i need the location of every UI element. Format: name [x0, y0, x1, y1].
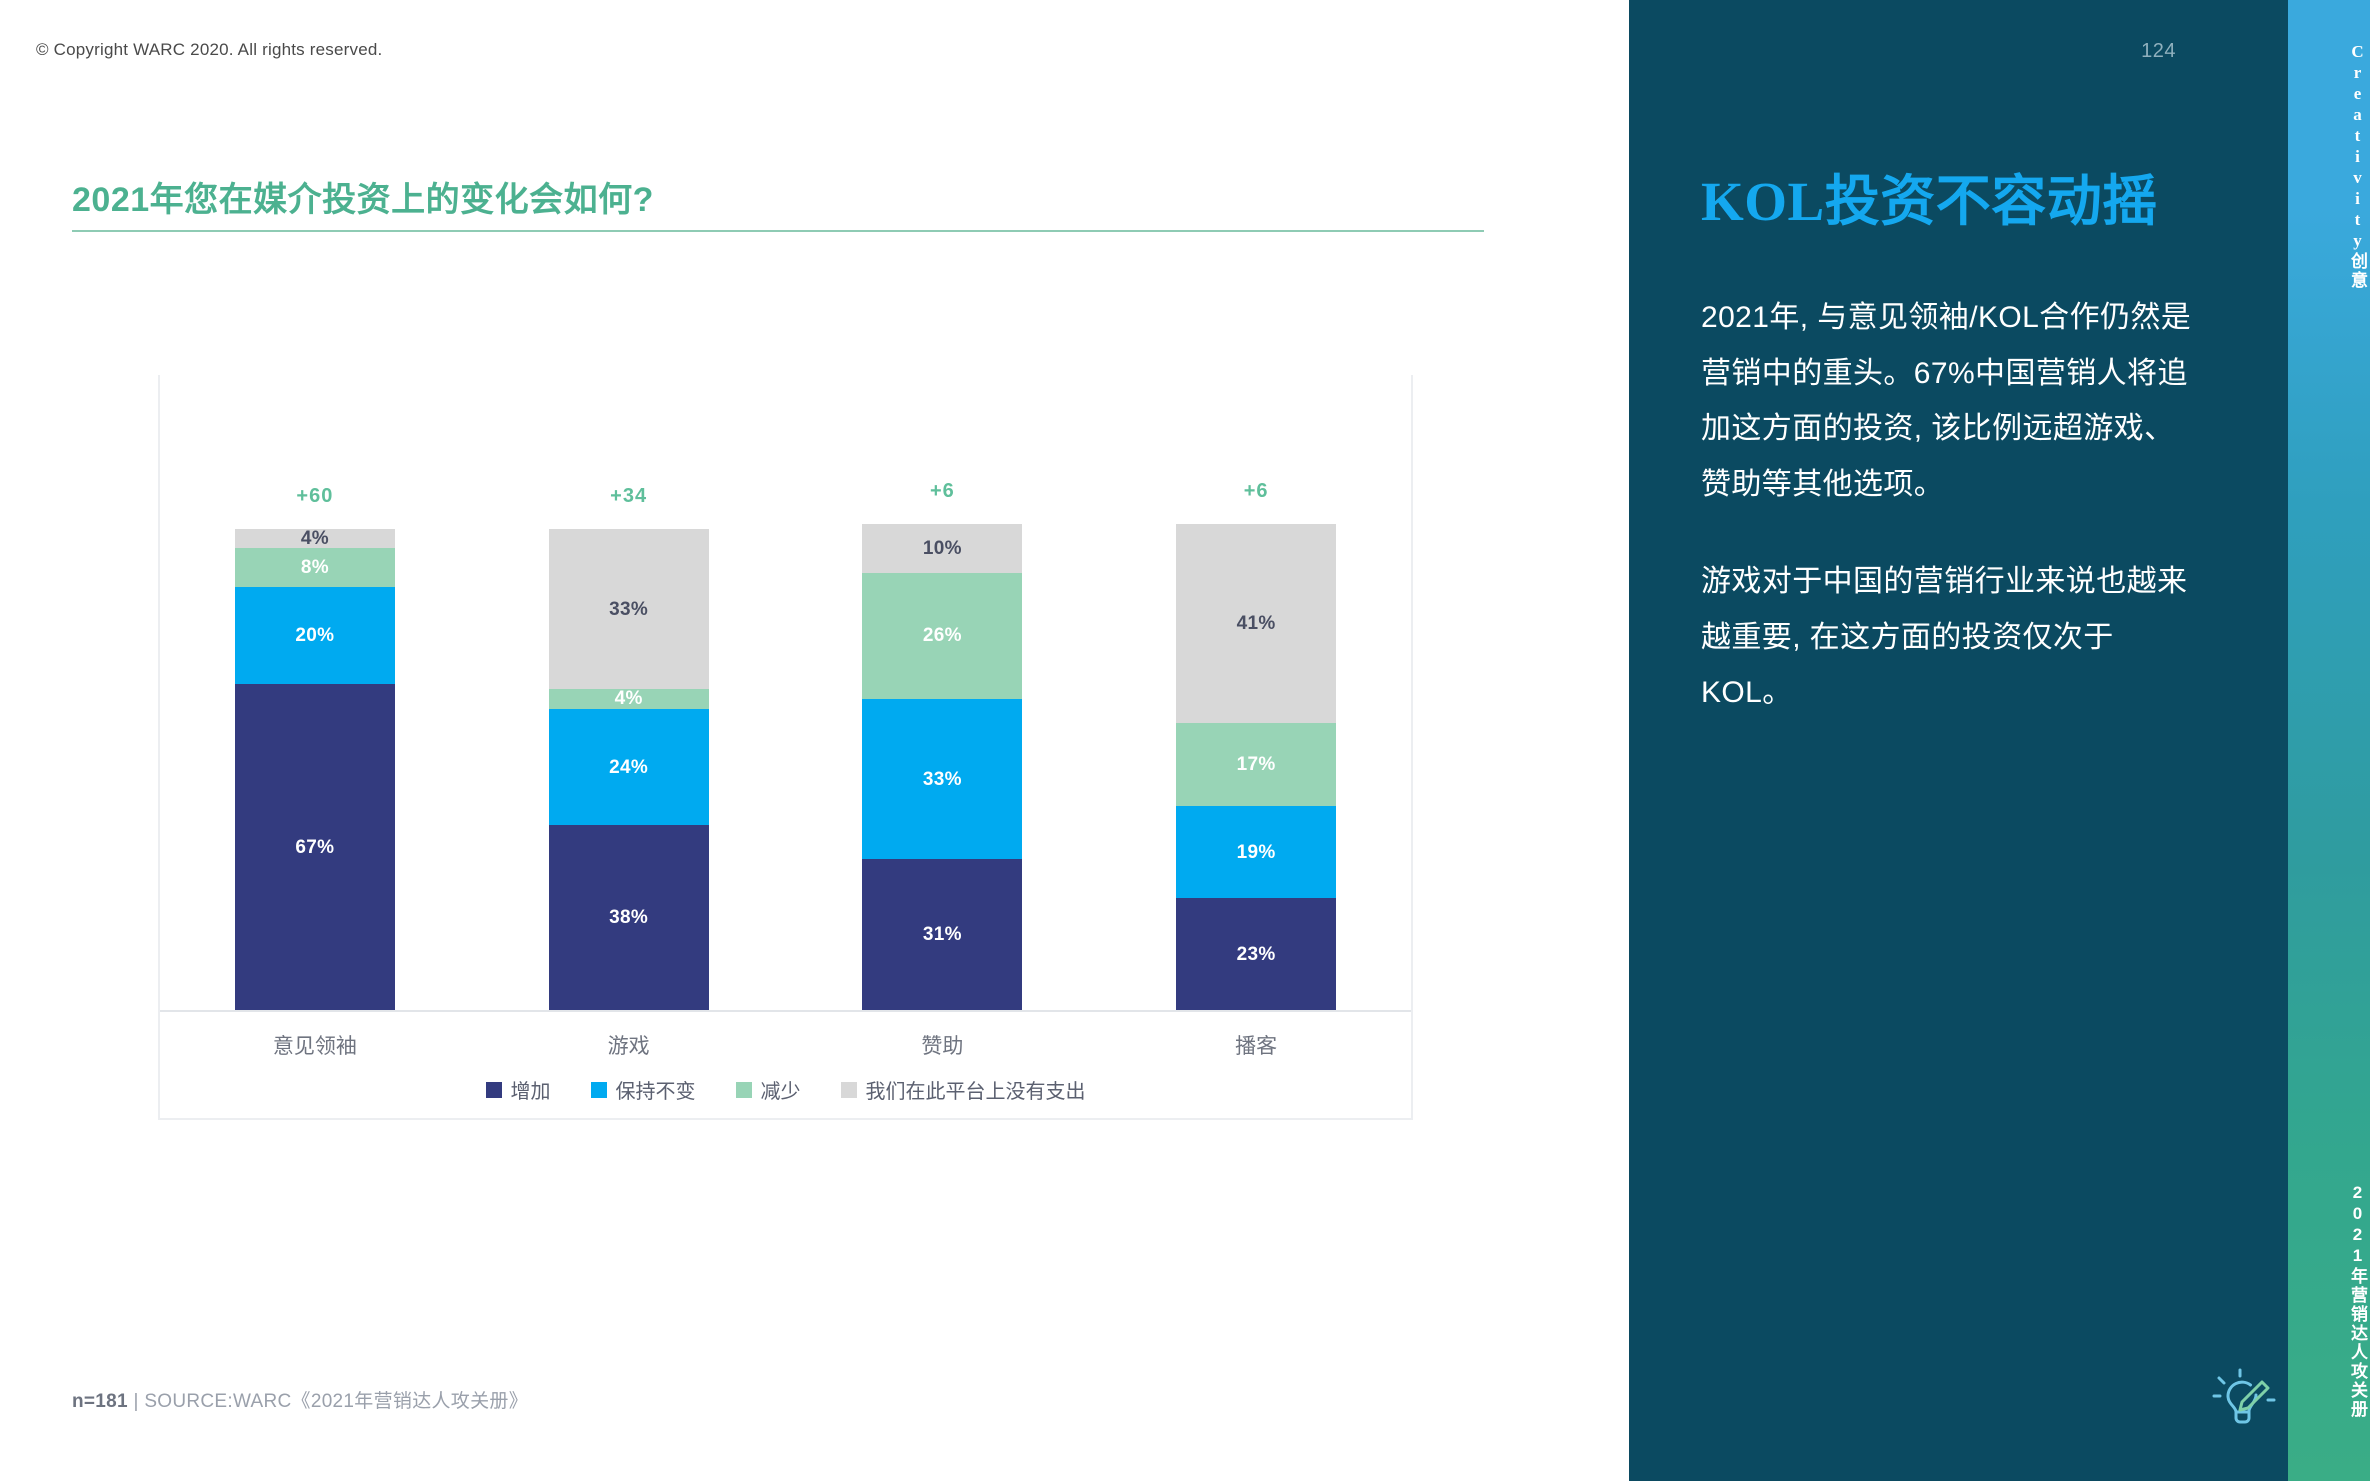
bar-segment: 4% [235, 529, 395, 548]
bar-segment-value: 4% [615, 689, 643, 708]
bar-group: +641%17%19%23% [1176, 480, 1336, 1010]
left-content-panel: © Copyright WARC 2020. All rights reserv… [0, 0, 1629, 1481]
category-axis-label: 游戏 [529, 1030, 729, 1060]
legend-swatch-icon [841, 1082, 857, 1098]
bar-segment: 24% [549, 709, 709, 826]
bar-group: +610%26%33%31% [862, 480, 1022, 1010]
page-title: 2021年您在媒介投资上的变化会如何? [72, 172, 654, 221]
category-axis-label: 播客 [1156, 1030, 1356, 1060]
legend-item[interactable]: 增加 [486, 1075, 551, 1104]
bar-segment: 38% [549, 825, 709, 1010]
legend-swatch-icon [736, 1082, 752, 1098]
legend-swatch-icon [486, 1082, 502, 1098]
source-text: SOURCE:WARC《2021年营销达人攻关册》 [144, 1391, 528, 1412]
bar-segment-value: 23% [1237, 945, 1276, 964]
footnote-separator: | [128, 1391, 144, 1412]
bar-segment: 26% [862, 573, 1022, 699]
bar-segment-value: 67% [295, 838, 334, 857]
bar-segment-value: 33% [609, 600, 648, 619]
copyright-notice: © Copyright WARC 2020. All rights reserv… [36, 40, 382, 60]
bar-segment-value: 41% [1237, 614, 1276, 633]
bar-segment: 33% [862, 699, 1022, 859]
bar-segment: 31% [862, 859, 1022, 1010]
bar-segment: 19% [1176, 806, 1336, 898]
legend-label: 我们在此平台上没有支出 [866, 1075, 1086, 1104]
bar-segment: 4% [549, 689, 709, 708]
bar-segment-value: 10% [923, 539, 962, 558]
bar-segment-value: 4% [301, 529, 329, 548]
bar-stack: 33%4%24%38% [549, 529, 709, 1010]
bar-group: +3433%4%24%38% [549, 485, 709, 1010]
bar-segment-value: 20% [295, 626, 334, 645]
bar-segment: 67% [235, 684, 395, 1010]
bar-segment-value: 26% [923, 626, 962, 645]
right-commentary-panel: 124 KOL投资不容动摇 2021年, 与意见领袖/KOL合作仍然是营销中的重… [1629, 0, 2288, 1481]
commentary-paragraph-1: 2021年, 与意见领袖/KOL合作仍然是营销中的重头。67%中国营销人将追加这… [1701, 290, 2201, 512]
page-number: 124 [2141, 40, 2176, 63]
bar-segment: 33% [549, 529, 709, 689]
bar-segment: 17% [1176, 723, 1336, 806]
bar-total-label: +6 [1176, 480, 1336, 503]
bar-segment-value: 33% [923, 770, 962, 789]
legend-item[interactable]: 保持不变 [591, 1075, 696, 1104]
category-axis-label: 赞助 [842, 1030, 1042, 1060]
title-underline-rule [72, 230, 1484, 232]
legend-item[interactable]: 我们在此平台上没有支出 [841, 1075, 1086, 1104]
category-axis-label: 意见领袖 [215, 1030, 415, 1060]
bar-segment-value: 17% [1237, 755, 1276, 774]
bar-group: +604%8%20%67% [235, 485, 395, 1010]
bar-segment-value: 19% [1237, 843, 1276, 862]
chart-legend: 增加保持不变减少我们在此平台上没有支出 [158, 1075, 1413, 1104]
source-footnote: n=181 | SOURCE:WARC《2021年营销达人攻关册》 [72, 1386, 528, 1413]
bar-total-label: +60 [235, 485, 395, 508]
chart-border-bottom [158, 1118, 1413, 1120]
bar-stack: 10%26%33%31% [862, 524, 1022, 1010]
sample-size-value: n=181 [72, 1391, 128, 1412]
bar-segment: 41% [1176, 524, 1336, 723]
bar-segment-value: 24% [609, 758, 648, 777]
bar-segment-value: 31% [923, 925, 962, 944]
bar-stack: 41%17%19%23% [1176, 524, 1336, 1010]
stacked-bar-chart: +604%8%20%67%+3433%4%24%38%+610%26%33%31… [158, 375, 1413, 1120]
sidebar-report-label: 2021年营销达人攻关册 [2288, 1183, 2370, 1419]
bar-segment: 23% [1176, 898, 1336, 1010]
section-sidebar-strip: Creativity创意 2021年营销达人攻关册 [2288, 0, 2370, 1481]
legend-label: 保持不变 [616, 1075, 696, 1104]
bar-total-label: +6 [862, 480, 1022, 503]
bar-segment-value: 8% [301, 558, 329, 577]
legend-label: 减少 [761, 1075, 801, 1104]
bar-total-label: +34 [549, 485, 709, 508]
bar-segment: 10% [862, 524, 1022, 573]
bar-segment-value: 38% [609, 908, 648, 927]
legend-label: 增加 [511, 1075, 551, 1104]
commentary-paragraph-2: 游戏对于中国的营销行业来说也越来越重要, 在这方面的投资仅次于KOL。 [1701, 554, 2201, 721]
bar-segment: 8% [235, 548, 395, 587]
slide: © Copyright WARC 2020. All rights reserv… [0, 0, 2370, 1481]
legend-swatch-icon [591, 1082, 607, 1098]
commentary-body: 2021年, 与意见领袖/KOL合作仍然是营销中的重头。67%中国营销人将追加这… [1701, 290, 2201, 721]
sidebar-section-label: Creativity创意 [2288, 42, 2370, 290]
lightbulb-pencil-icon [2212, 1368, 2276, 1432]
legend-item[interactable]: 减少 [736, 1075, 801, 1104]
bar-stack: 4%8%20%67% [235, 529, 395, 1010]
bar-segment: 20% [235, 587, 395, 684]
commentary-heading: KOL投资不容动摇 [1701, 172, 2241, 233]
chart-plot-area: +604%8%20%67%+3433%4%24%38%+610%26%33%31… [158, 375, 1413, 1012]
